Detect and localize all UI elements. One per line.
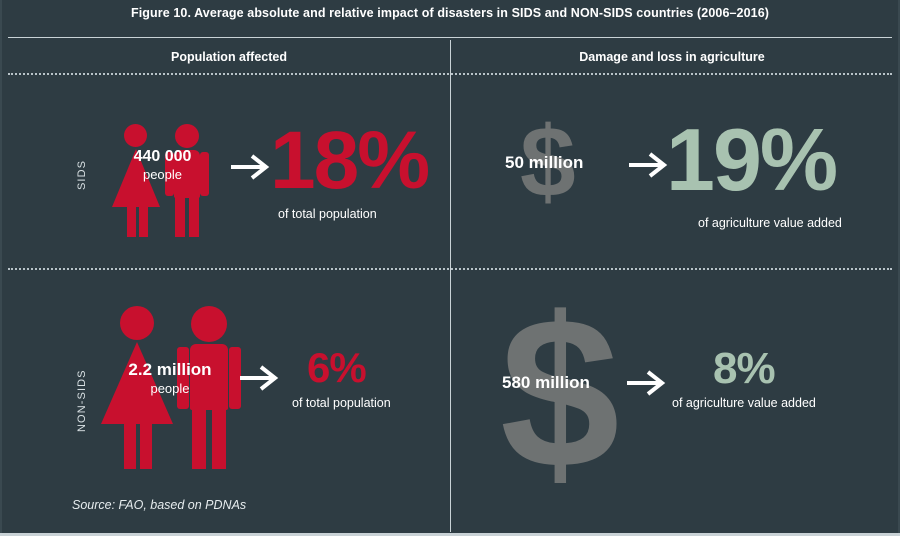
caption-non-sids-population: of total population: [292, 396, 391, 410]
percent-sids-population: 18%: [270, 124, 428, 198]
caption-non-sids-agriculture: of agriculture value added: [672, 396, 816, 410]
column-header-agriculture: Damage and loss in agriculture: [452, 50, 892, 64]
arrow-right-icon-non-sids-population: [238, 363, 280, 393]
arrow-right-icon-non-sids-agriculture: [625, 368, 667, 398]
frame-left-edge: [0, 0, 2, 536]
title-rule: [8, 37, 892, 38]
percent-non-sids-agriculture: 8%: [713, 349, 775, 389]
value-sids-population: 440 000: [100, 148, 225, 166]
row-label-sids: SIDS: [76, 160, 88, 190]
arrow-right-icon-sids-population: [229, 152, 271, 182]
figure-title: Figure 10. Average absolute and relative…: [0, 6, 900, 20]
value-non-sids-population: 2.2 million: [100, 360, 240, 380]
figure-panel: Figure 10. Average absolute and relative…: [0, 0, 900, 536]
percent-sids-agriculture: 19%: [666, 120, 836, 199]
row-label-non-sids: NON-SIDS: [76, 369, 88, 432]
caption-sids-agriculture: of agriculture value added: [698, 216, 842, 230]
arrow-right-icon-sids-agriculture: [627, 150, 669, 180]
source-note: Source: FAO, based on PDNAs: [72, 498, 246, 512]
unit-sids-population: people: [100, 167, 225, 182]
percent-non-sids-population: 6%: [307, 349, 366, 387]
value-sids-agriculture: 50 million: [505, 153, 583, 173]
value-non-sids-agriculture: 580 million: [502, 373, 590, 393]
column-header-population: Population affected: [8, 50, 450, 64]
caption-sids-population: of total population: [278, 207, 377, 221]
divider-columns-vertical: [450, 40, 451, 532]
unit-non-sids-population: people: [100, 381, 240, 396]
